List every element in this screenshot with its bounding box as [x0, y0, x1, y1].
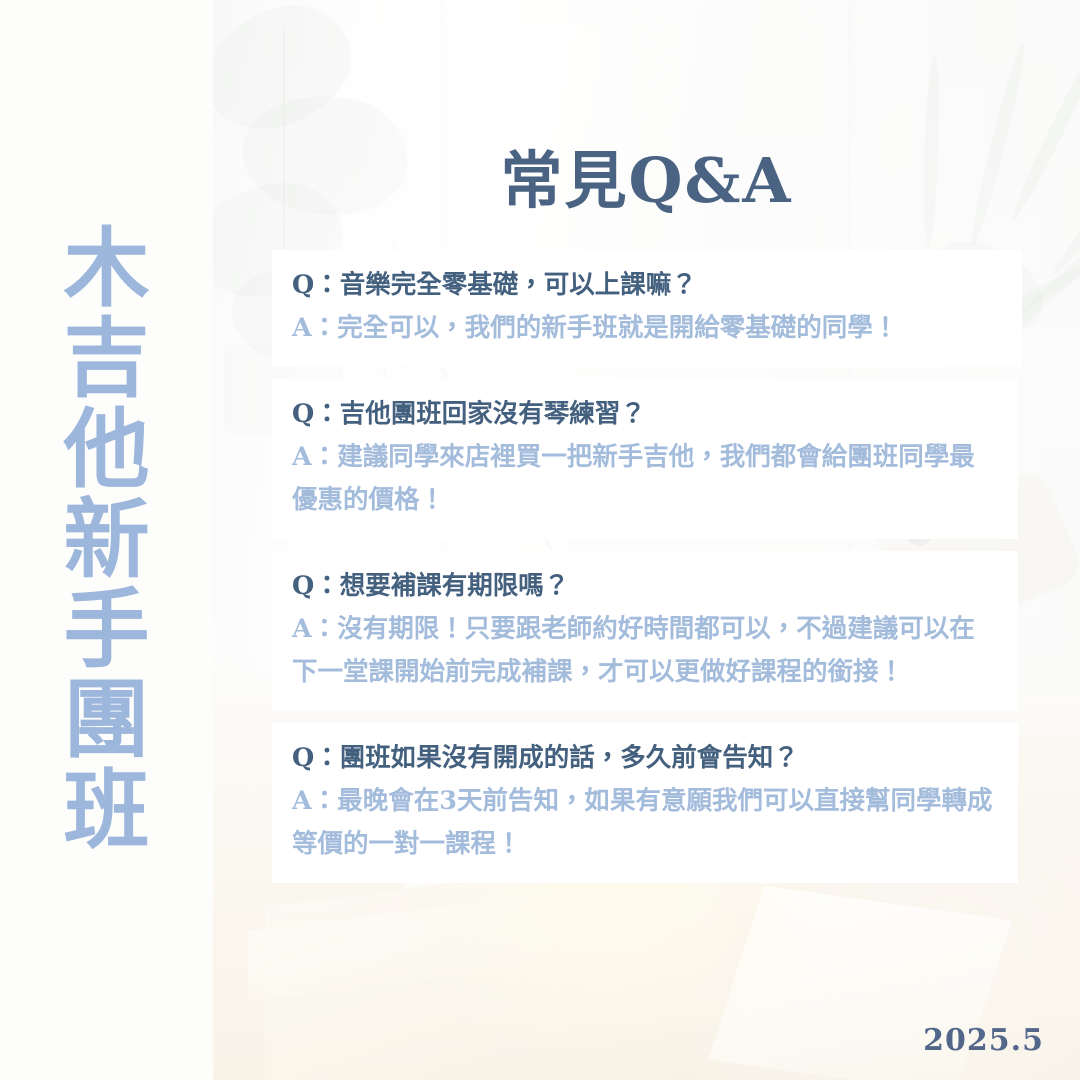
- qa-card: Q：音樂完全零基礎，可以上課嘛？ A：完全可以，我們的新手班就是開給零基礎的同學…: [272, 250, 1022, 367]
- vertical-title-char: 木: [64, 227, 150, 311]
- vertical-title-char: 他: [64, 408, 150, 492]
- vertical-title-char: 團: [64, 678, 150, 762]
- qa-answer: A：最晚會在3天前告知，如果有意願我們可以直接幫同學轉成等價的一對一課程！: [292, 780, 998, 867]
- page-title: 常見Q&A: [213, 130, 1080, 220]
- poster-canvas: 木 吉 他 新 手 團 班 常見Q&A Q：音樂完全零基礎，可以上課嘛？ A：完…: [0, 0, 1080, 1080]
- qa-card: Q：吉他團班回家沒有琴練習？ A：建議同學來店裡買一把新手吉他，我們都會給團班同…: [272, 379, 1018, 539]
- qa-card: Q：想要補課有期限嗎？ A：沒有期限！只要跟老師約好時間都可以，不過建議可以在下…: [272, 551, 1018, 711]
- vertical-title-char: 吉: [64, 317, 150, 401]
- date-stamp: 2025.5: [923, 1023, 1044, 1058]
- qa-question: Q：音樂完全零基礎，可以上課嘛？: [292, 264, 1002, 307]
- qa-card-list: Q：音樂完全零基礎，可以上課嘛？ A：完全可以，我們的新手班就是開給零基礎的同學…: [272, 250, 1022, 895]
- vertical-title-char: 手: [64, 588, 150, 672]
- qa-answer: A：沒有期限！只要跟老師約好時間都可以，不過建議可以在下一堂課開始前完成補課，才…: [292, 608, 998, 695]
- vertical-title-char: 班: [64, 769, 150, 853]
- vertical-title-char: 新: [64, 498, 150, 582]
- qa-question: Q：團班如果沒有開成的話，多久前會告知？: [292, 737, 998, 780]
- left-title-panel: 木 吉 他 新 手 團 班: [0, 0, 213, 1080]
- qa-card: Q：團班如果沒有開成的話，多久前會告知？ A：最晚會在3天前告知，如果有意願我們…: [272, 723, 1018, 883]
- qa-answer: A：完全可以，我們的新手班就是開給零基礎的同學！: [292, 307, 1002, 350]
- qa-question: Q：想要補課有期限嗎？: [292, 565, 998, 608]
- qa-answer: A：建議同學來店裡買一把新手吉他，我們都會給團班同學最優惠的價格！: [292, 436, 998, 523]
- qa-question: Q：吉他團班回家沒有琴練習？: [292, 393, 998, 436]
- vertical-brand-title: 木 吉 他 新 手 團 班: [0, 0, 213, 1080]
